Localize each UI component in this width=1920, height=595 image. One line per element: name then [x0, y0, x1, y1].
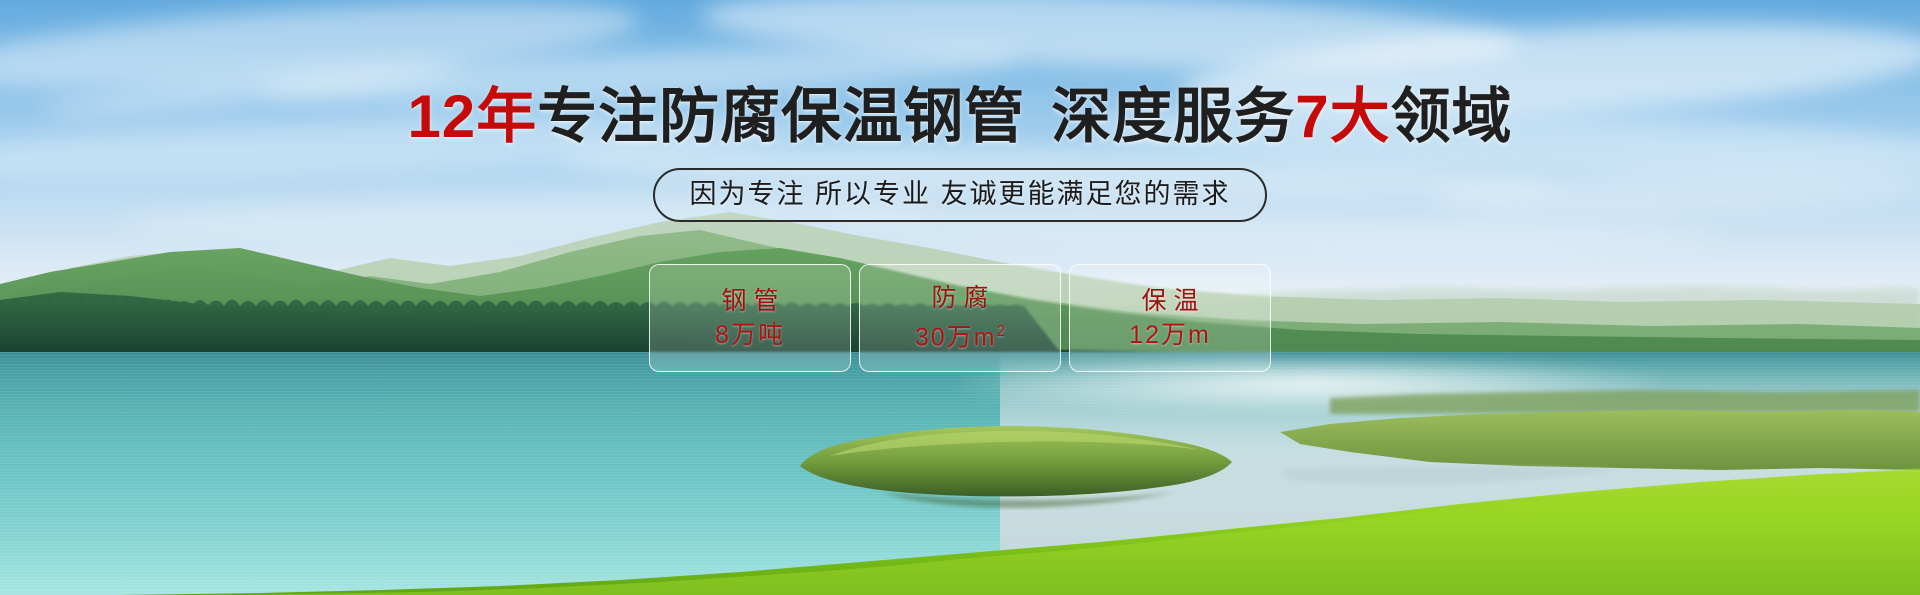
- headline-years-number: 12: [407, 83, 476, 150]
- stat-box-anticorrosion[interactable]: 防腐 30万m2: [859, 264, 1061, 372]
- marsh-bank: [1280, 410, 1920, 470]
- headline-focus-text: 专注防腐保温钢管: [537, 83, 1025, 150]
- headline-seven-number: 7: [1295, 83, 1329, 150]
- headline-service-text: 深度服务: [1051, 83, 1295, 150]
- subtitle-container: 因为专注 所以专业 友诚更能满足您的需求: [0, 168, 1920, 222]
- stat-value-text: 30万m: [915, 324, 997, 352]
- banner-headline: 12年专注防腐保温钢管深度服务7大领域: [0, 84, 1920, 150]
- far-marsh: [1330, 390, 1920, 414]
- stat-value-text: 12万m: [1129, 321, 1211, 349]
- stat-value: 12万m: [1129, 321, 1211, 349]
- stat-label: 保温: [1134, 287, 1205, 315]
- headline-big-char: 大: [1330, 83, 1391, 150]
- headline-fields-text: 领域: [1391, 83, 1513, 150]
- stat-box-insulation[interactable]: 保温 12万m: [1069, 264, 1271, 372]
- stat-box-steel-pipe[interactable]: 钢管 8万吨: [649, 264, 851, 372]
- stat-label: 防腐: [924, 284, 995, 312]
- hero-banner: 12年专注防腐保温钢管深度服务7大领域 因为专注 所以专业 友诚更能满足您的需求…: [0, 0, 1920, 595]
- stats-row: 钢管 8万吨 防腐 30万m2 保温 12万m: [0, 264, 1920, 372]
- stat-value: 8万吨: [715, 321, 785, 349]
- headline-years-unit: 年: [476, 83, 537, 150]
- stat-value: 30万m2: [915, 318, 1005, 351]
- stat-value-text: 8万吨: [715, 321, 785, 349]
- stat-label: 钢管: [714, 287, 785, 315]
- subtitle-pill: 因为专注 所以专业 友诚更能满足您的需求: [653, 168, 1266, 222]
- water-inlet: [1280, 466, 1620, 485]
- stat-value-superscript: 2: [997, 323, 1006, 340]
